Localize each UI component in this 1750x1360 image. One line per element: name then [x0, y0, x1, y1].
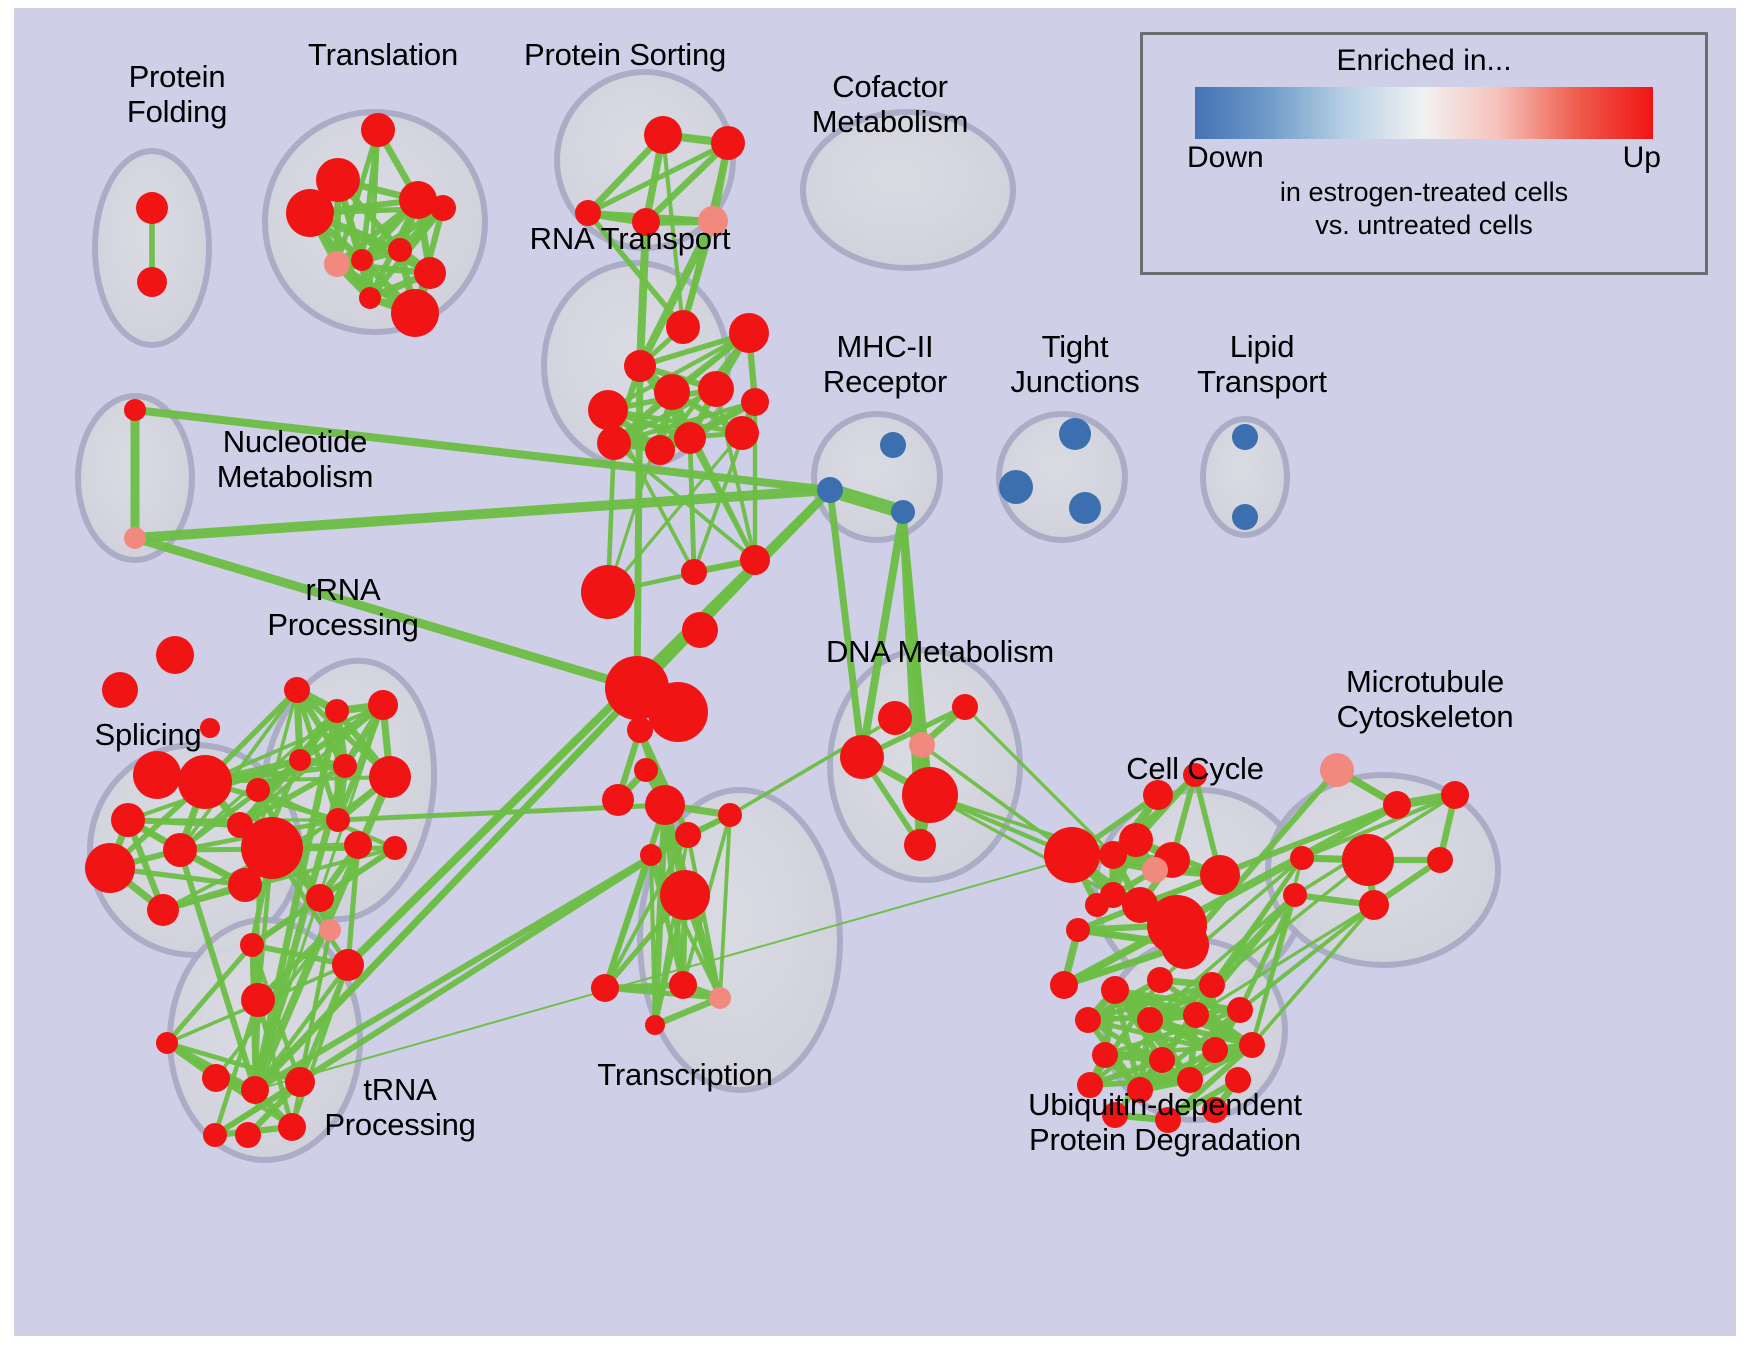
network-node — [124, 399, 146, 421]
cluster-label-mhc-ii-receptor: MHC-II Receptor — [790, 330, 980, 399]
network-node — [1232, 424, 1258, 450]
network-node — [203, 1123, 227, 1147]
network-node — [111, 803, 145, 837]
network-node — [718, 803, 742, 827]
cluster-label-trna-processing: tRNA Processing — [300, 1073, 500, 1142]
figure-canvas: Protein Folding Translation Protein Sort… — [0, 0, 1750, 1360]
legend-box: Enriched in... Down Up in estrogen-treat… — [1140, 32, 1708, 275]
network-node — [1202, 1037, 1228, 1063]
network-node — [1059, 418, 1091, 450]
cluster-label-splicing: Splicing — [58, 718, 238, 753]
network-node — [333, 754, 357, 778]
network-node — [627, 717, 653, 743]
network-node — [163, 833, 197, 867]
network-node — [1099, 841, 1127, 869]
network-node — [1161, 921, 1209, 969]
network-node — [235, 1122, 261, 1148]
cluster-label-rrna-processing: rRNA Processing — [248, 573, 438, 642]
network-node — [645, 435, 675, 465]
network-node — [124, 527, 146, 549]
network-node — [698, 371, 734, 407]
network-node — [624, 350, 656, 382]
network-node — [999, 470, 1033, 504]
network-node — [952, 694, 978, 720]
network-node — [1066, 918, 1090, 942]
network-node — [1441, 781, 1469, 809]
network-node — [681, 559, 707, 585]
network-node — [588, 390, 628, 430]
cluster-label-transcription: Transcription — [560, 1058, 810, 1093]
network-node — [645, 1015, 665, 1035]
network-node — [1239, 1032, 1265, 1058]
legend-color-bar — [1195, 87, 1653, 139]
network-node — [351, 249, 373, 271]
network-edge — [637, 366, 640, 688]
network-node — [1069, 492, 1101, 524]
network-node — [319, 919, 341, 941]
network-node — [414, 257, 446, 289]
network-node — [1137, 1007, 1163, 1033]
network-node — [654, 374, 690, 410]
network-node — [602, 784, 634, 816]
network-node — [741, 388, 769, 416]
network-node — [709, 987, 731, 1009]
network-node — [241, 817, 303, 879]
network-node — [325, 699, 349, 723]
network-node — [591, 974, 619, 1002]
network-node — [137, 267, 167, 297]
cluster-label-microtubule-cytoskeleton: Microtubule Cytoskeleton — [1300, 665, 1550, 734]
network-node — [133, 751, 181, 799]
network-node — [344, 831, 372, 859]
network-node — [640, 844, 662, 866]
network-node — [284, 677, 310, 703]
network-node — [246, 778, 270, 802]
network-node — [817, 477, 843, 503]
network-node — [1199, 972, 1225, 998]
network-node — [1147, 967, 1173, 993]
cluster-label-ubiquitin-degradation: Ubiquitin-dependent Protein Degradation — [985, 1088, 1345, 1157]
network-node — [1427, 847, 1453, 873]
network-node — [597, 426, 631, 460]
network-node — [675, 822, 701, 848]
network-node — [136, 192, 168, 224]
network-node — [840, 735, 884, 779]
network-node — [902, 767, 958, 823]
network-node — [1050, 971, 1078, 999]
network-node — [306, 884, 334, 912]
legend-low-label: Down — [1187, 141, 1264, 175]
cluster-label-dna-metabolism: DNA Metabolism — [800, 635, 1080, 670]
network-node — [326, 808, 350, 832]
network-node — [634, 758, 658, 782]
network-node — [388, 238, 412, 262]
network-node — [1149, 1047, 1175, 1073]
network-node — [1359, 890, 1389, 920]
cluster-label-rna-transport: RNA Transport — [505, 222, 755, 257]
network-node — [674, 422, 706, 454]
network-node — [904, 829, 936, 861]
cluster-label-cofactor-metabolism: Cofactor Metabolism — [790, 70, 990, 139]
cluster-label-tight-junctions: Tight Junctions — [985, 330, 1165, 399]
network-node — [289, 749, 311, 771]
network-node — [725, 416, 759, 450]
network-node — [666, 310, 700, 344]
cluster-label-protein-folding: Protein Folding — [82, 60, 272, 129]
network-node — [241, 1076, 269, 1104]
network-node — [178, 755, 232, 809]
network-node — [286, 189, 334, 237]
network-node — [1290, 846, 1314, 870]
legend-high-label: Up — [1623, 141, 1661, 175]
network-node — [369, 756, 411, 798]
legend-caption-line1: in estrogen-treated cells — [1143, 177, 1705, 208]
network-node — [359, 287, 381, 309]
network-node — [1283, 883, 1307, 907]
network-node — [383, 836, 407, 860]
cluster-label-translation: Translation — [288, 38, 478, 73]
network-node — [156, 636, 194, 674]
network-node — [878, 701, 912, 735]
network-node — [1227, 997, 1253, 1023]
network-node — [1142, 857, 1168, 883]
network-node — [391, 289, 439, 337]
network-node — [85, 843, 135, 893]
cluster-label-nucleotide-metabolism: Nucleotide Metabolism — [190, 425, 400, 494]
network-node — [1383, 791, 1411, 819]
network-node — [729, 313, 769, 353]
network-node — [324, 251, 350, 277]
cluster-label-protein-sorting: Protein Sorting — [500, 38, 750, 73]
network-node — [711, 126, 745, 160]
network-node — [1101, 976, 1129, 1004]
network-node — [1085, 893, 1109, 917]
network-node — [660, 870, 710, 920]
network-node — [1075, 1007, 1101, 1033]
network-node — [368, 690, 398, 720]
network-node — [682, 612, 718, 648]
network-node — [645, 785, 685, 825]
network-node — [891, 500, 915, 524]
network-node — [648, 682, 708, 742]
legend-title: Enriched in... — [1143, 44, 1705, 78]
network-node — [241, 983, 275, 1017]
network-node — [581, 565, 635, 619]
network-node — [880, 432, 906, 458]
legend-caption-line2: vs. untreated cells — [1143, 210, 1705, 241]
network-node — [332, 949, 364, 981]
cluster-label-cell-cycle: Cell Cycle — [1095, 752, 1295, 787]
network-node — [1044, 827, 1100, 883]
network-node — [740, 545, 770, 575]
cluster-label-lipid-transport: Lipid Transport — [1172, 330, 1352, 399]
network-node — [1200, 855, 1240, 895]
network-node — [202, 1064, 230, 1092]
network-node — [1092, 1042, 1118, 1068]
network-node — [1232, 504, 1258, 530]
network-node — [240, 933, 264, 957]
network-node — [1342, 834, 1394, 886]
network-node — [156, 1032, 178, 1054]
network-node — [1320, 753, 1354, 787]
network-node — [430, 195, 456, 221]
network-node — [147, 894, 179, 926]
network-node — [361, 113, 395, 147]
network-node — [669, 971, 697, 999]
network-node — [1183, 1002, 1209, 1028]
network-node — [102, 672, 138, 708]
network-node — [909, 732, 935, 758]
network-node — [644, 116, 682, 154]
